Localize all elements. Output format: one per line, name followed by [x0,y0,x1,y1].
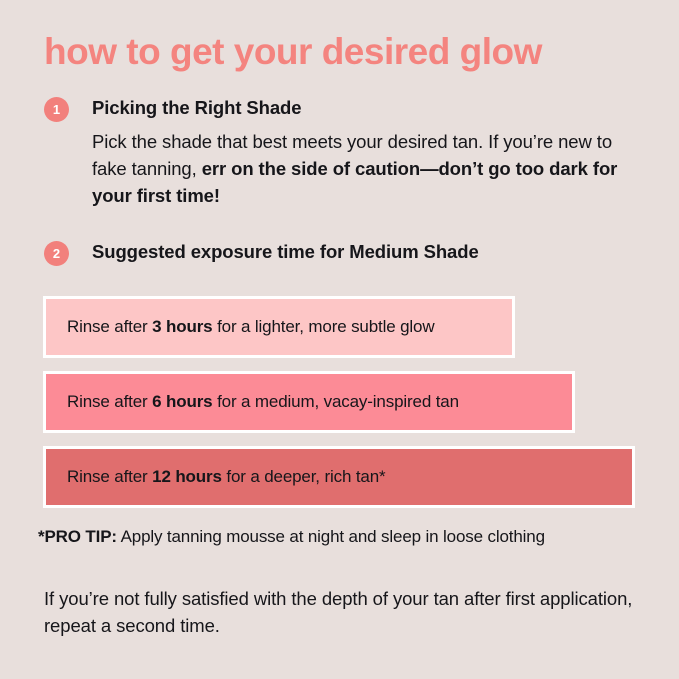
bar-label: Rinse after 12 hours for a deeper, rich … [46,467,385,487]
bar-label: Rinse after 3 hours for a lighter, more … [46,317,434,337]
pro-tip-label: *PRO TIP: [38,527,117,546]
bar-label-prefix: Rinse after [67,392,152,411]
step-number-badge-2: 2 [44,241,69,266]
bar-label-hours: 3 hours [152,317,212,336]
bar-label-suffix: for a deeper, rich tan* [222,467,386,486]
bar-label-prefix: Rinse after [67,317,152,336]
exposure-time-bar-chart: Rinse after 3 hours for a lighter, more … [43,296,635,521]
bar-label-prefix: Rinse after [67,467,152,486]
pro-tip-text: Apply tanning mousse at night and sleep … [117,527,545,546]
bar-label: Rinse after 6 hours for a medium, vacay-… [46,392,459,412]
pro-tip: *PRO TIP: Apply tanning mousse at night … [38,527,545,547]
step-2-body: Suggested exposure time for Medium Shade [92,240,649,263]
infographic-page: how to get your desired glow 1 Picking t… [0,0,679,679]
bar-row: Rinse after 3 hours for a lighter, more … [43,296,515,358]
bar-label-suffix: for a lighter, more subtle glow [213,317,435,336]
step-number-badge-1: 1 [44,97,69,122]
bar-row: Rinse after 6 hours for a medium, vacay-… [43,371,575,433]
bar-label-hours: 6 hours [152,392,212,411]
bar-label-hours: 12 hours [152,467,222,486]
step-1: 1 Picking the Right Shade Pick the shade… [44,96,649,210]
bar-label-suffix: for a medium, vacay-inspired tan [213,392,459,411]
step-2: 2 Suggested exposure time for Medium Sha… [44,240,649,266]
page-title: how to get your desired glow [44,31,542,74]
step-1-heading: Picking the Right Shade [92,96,649,119]
bar-row: Rinse after 12 hours for a deeper, rich … [43,446,635,508]
step-2-heading: Suggested exposure time for Medium Shade [92,240,649,263]
step-1-body: Picking the Right Shade Pick the shade t… [92,96,649,210]
footer-note: If you’re not fully satisfied with the d… [44,586,634,640]
step-1-paragraph: Pick the shade that best meets your desi… [92,129,628,209]
